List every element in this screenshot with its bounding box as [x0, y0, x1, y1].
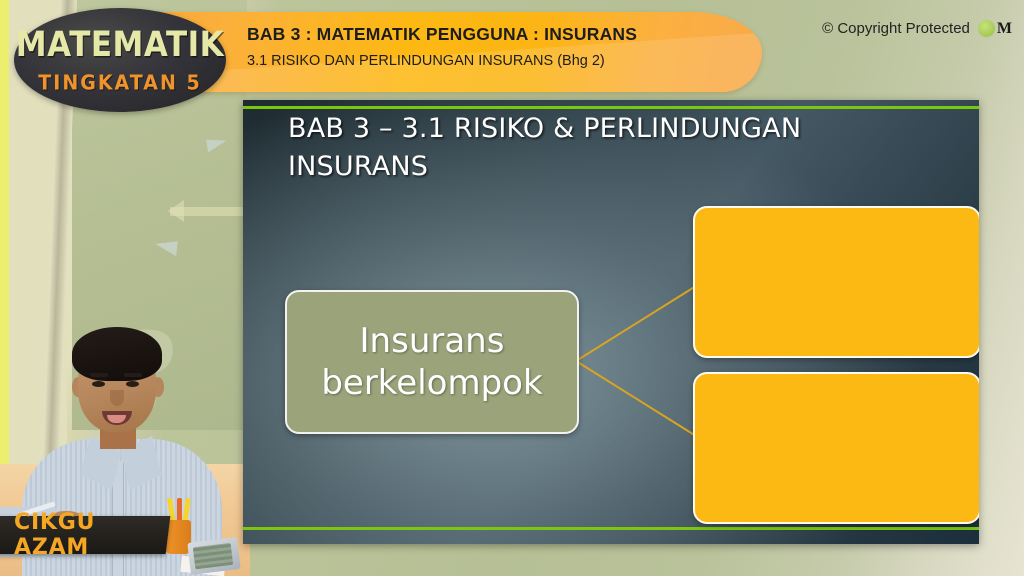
slide-title: BAB 3 – 3.1 RISIKO & PERLINDUNGAN INSURA… — [288, 110, 908, 187]
diagram-branch-node-2 — [693, 372, 979, 524]
presentation-slide: BAB 3 – 3.1 RISIKO & PERLINDUNGAN INSURA… — [243, 100, 979, 544]
diagram-branch-label-2 — [695, 374, 979, 398]
presenter-name: CIKGU AZAM — [14, 510, 168, 560]
presenter-eye-left — [92, 381, 105, 387]
calculator-icon — [187, 537, 241, 575]
presenter-nose — [110, 390, 124, 406]
arrow-doodle-icon — [170, 207, 250, 216]
diagram-branch-label-1 — [695, 208, 979, 232]
header-banner: BAB 3 : MATEMATIK PENGGUNA : INSURANS 3.… — [152, 12, 762, 92]
diagram-branch-node-1 — [693, 206, 979, 358]
logo-title: MATEMATIK — [16, 24, 224, 64]
presenter-eye-right — [126, 381, 139, 387]
copyright-text: © Copyright Protected — [822, 20, 970, 37]
slide-bottom-rule — [243, 527, 979, 530]
connector-line-bottom — [575, 360, 700, 439]
chapter-title: BAB 3 : MATEMATIK PENGGUNA : INSURANS — [247, 24, 762, 45]
course-logo: MATEMATIK TINGKATAN 5 — [14, 8, 226, 112]
presenter-brow-left — [90, 373, 108, 377]
chapter-subtitle: 3.1 RISIKO DAN PERLINDUNGAN INSURANS (Bh… — [247, 53, 762, 69]
diagram-center-node: Insurans berkelompok — [285, 290, 579, 434]
logo-subtitle: TINGKATAN 5 — [38, 71, 201, 94]
screen: ? BAB 3 : MATEMATIK PENGGUNA : INSURANS … — [0, 0, 1024, 576]
presenter-brow-right — [124, 373, 142, 377]
publisher-logo: M — [978, 20, 1012, 37]
presenter-video: CIKGU AZAM — [0, 311, 243, 576]
copyright-notice: © Copyright Protected M — [822, 20, 1012, 37]
connector-line-top — [575, 283, 700, 362]
green-circle-icon — [978, 20, 995, 37]
presenter-name-banner: CIKGU AZAM — [0, 516, 170, 554]
publisher-initial: M — [997, 21, 1012, 37]
presenter-hair — [72, 327, 162, 381]
paper-plane-icon — [154, 239, 177, 256]
diagram-center-label: Insurans berkelompok — [287, 320, 577, 405]
slide-top-rule — [243, 106, 979, 109]
